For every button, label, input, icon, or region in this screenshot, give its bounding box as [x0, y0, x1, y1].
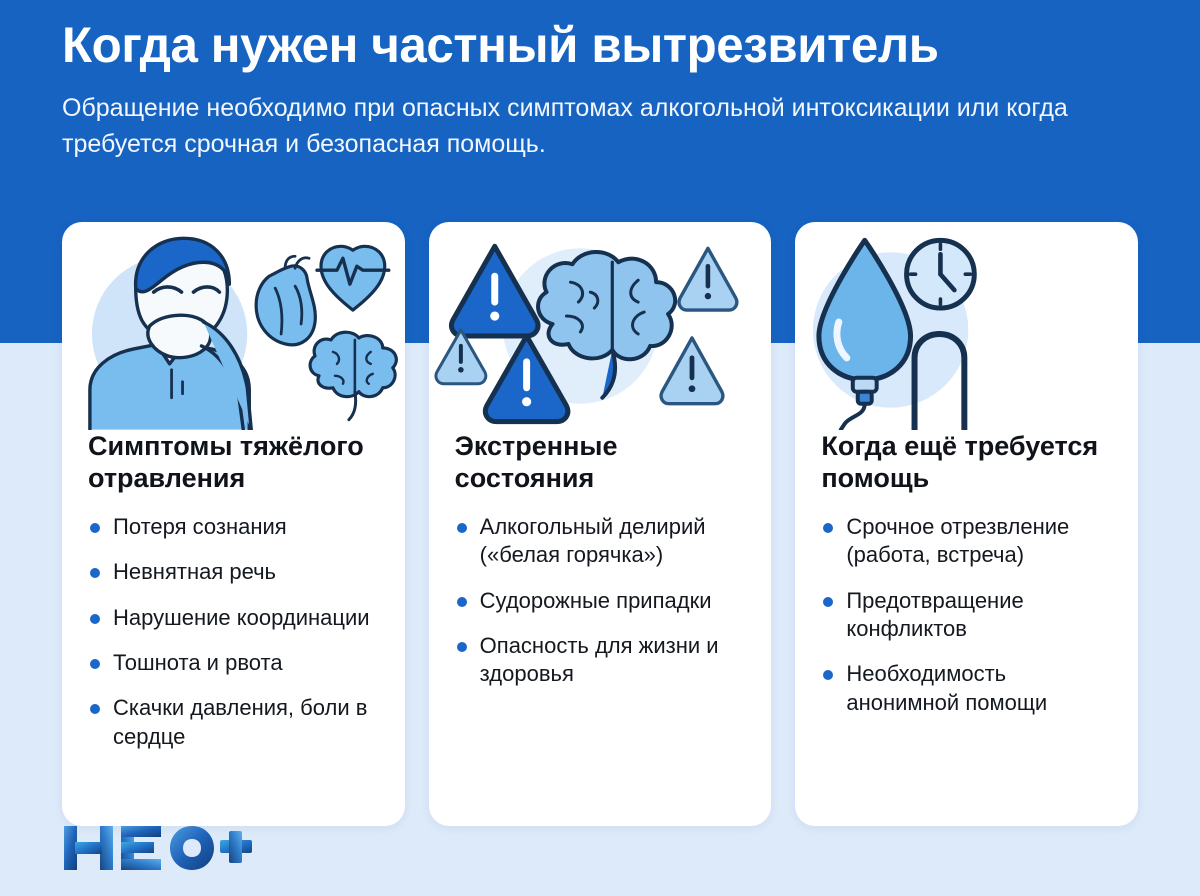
- card-body: Симптомы тяжёлого отравления Потеря созн…: [62, 430, 405, 826]
- list-item: Скачки давления, боли в сердце: [88, 694, 379, 751]
- neo-plus-logo: [62, 822, 252, 874]
- page-title: Когда нужен частный вытрезвитель: [62, 18, 1131, 72]
- page-subtitle: Обращение необходимо при опасных симптом…: [62, 91, 1092, 162]
- heartbeat-heart-icon: [317, 246, 389, 310]
- card-title: Экстренные состояния: [455, 430, 746, 495]
- iv-drip-clock-illustration: [795, 222, 1138, 430]
- logo-plus-icon: [220, 831, 252, 863]
- card-body: Когда ещё требуется помощь Срочное отрез…: [795, 430, 1138, 826]
- card-bullet-list: Потеря сознания Невнятная речь Нарушение…: [88, 513, 379, 751]
- card-severe-poisoning: Симптомы тяжёлого отравления Потеря созн…: [62, 222, 405, 826]
- card-body: Экстренные состояния Алкогольный делирий…: [429, 430, 772, 826]
- cards-row: Симптомы тяжёлого отравления Потеря созн…: [62, 222, 1138, 826]
- nauseated-man-heart-brain-illustration: [62, 222, 405, 430]
- card-other-help-cases: Когда ещё требуется помощь Срочное отрез…: [795, 222, 1138, 826]
- logo-letter-n: [64, 826, 113, 870]
- list-item: Необходимость анонимной помощи: [821, 660, 1112, 717]
- warning-triangle-icon: [679, 248, 737, 310]
- card-emergency-states: Экстренные состояния Алкогольный делирий…: [429, 222, 772, 826]
- logo-letter-e: [121, 826, 161, 870]
- list-item: Судорожные припадки: [455, 587, 746, 615]
- anatomical-heart-icon: [256, 256, 315, 345]
- card-title: Симптомы тяжёлого отравления: [88, 430, 379, 495]
- list-item: Опасность для жизни и здоровья: [455, 632, 746, 689]
- warning-triangle-icon: [661, 338, 723, 404]
- card-bullet-list: Срочное отрезвление (работа, встреча) Пр…: [821, 513, 1112, 717]
- list-item: Тошнота и рвота: [88, 649, 379, 677]
- brain-with-warning-triangles-illustration: [429, 222, 772, 430]
- list-item: Нарушение координации: [88, 604, 379, 632]
- list-item: Срочное отрезвление (работа, встреча): [821, 513, 1112, 570]
- list-item: Предотвращение конфликтов: [821, 587, 1112, 644]
- list-item: Невнятная речь: [88, 558, 379, 586]
- card-title: Когда ещё требуется помощь: [821, 430, 1112, 495]
- list-item: Алкогольный делирий («белая горячка»): [455, 513, 746, 570]
- logo-letter-o: [170, 826, 214, 870]
- clock-icon: [907, 240, 975, 308]
- header: Когда нужен частный вытрезвитель Обращен…: [62, 18, 1147, 162]
- brain-icon: [310, 332, 396, 419]
- card-bullet-list: Алкогольный делирий («белая горячка») Су…: [455, 513, 746, 689]
- list-item: Потеря сознания: [88, 513, 379, 541]
